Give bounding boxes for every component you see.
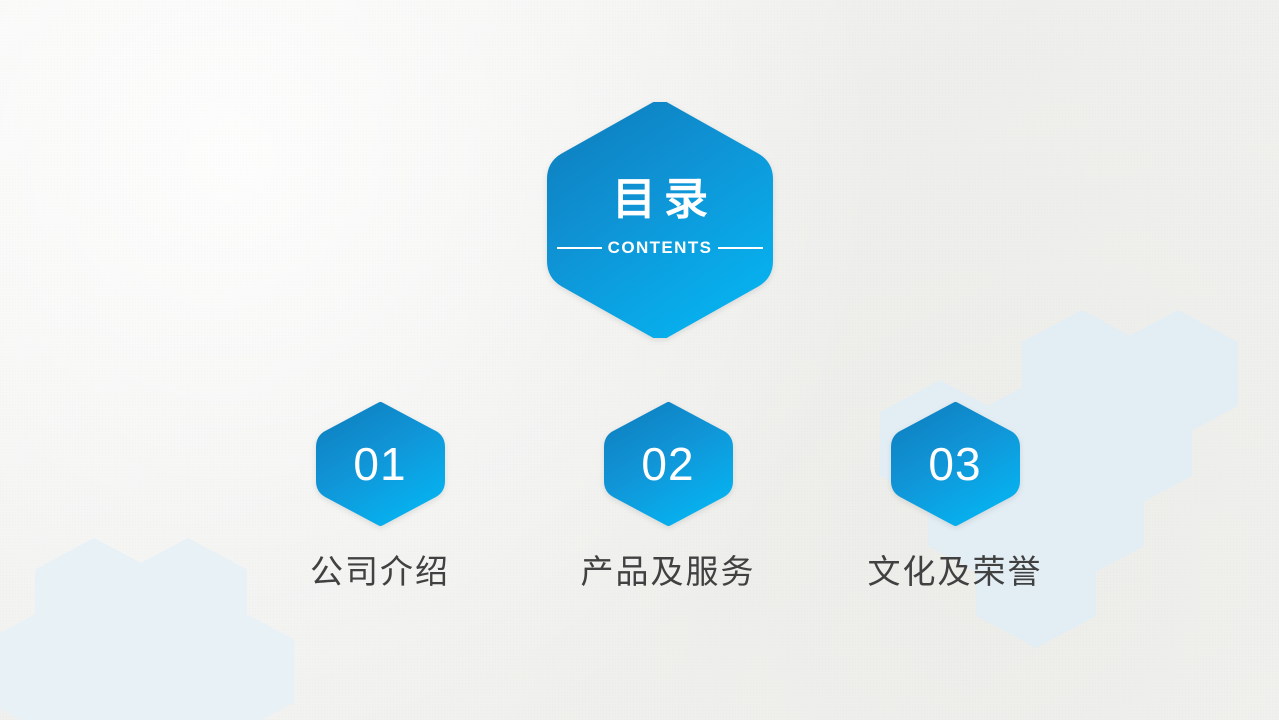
toc-caption-01: 公司介绍	[270, 554, 490, 590]
decor-hexagon	[129, 538, 247, 664]
decor-hexagon	[35, 678, 153, 720]
decor-hexagon	[1072, 380, 1192, 508]
number-hexagon-03[interactable]: 03	[890, 402, 1021, 526]
toc-caption-02: 产品及服务	[558, 554, 778, 590]
contents-hexagon[interactable]: 目录 CONTENTS	[546, 102, 774, 338]
contents-title-cn: 目录	[604, 178, 716, 222]
contents-title-en: CONTENTS	[602, 238, 719, 258]
decor-hexagon	[35, 538, 153, 664]
divider-line-right	[718, 247, 763, 249]
decor-hexagon	[129, 678, 247, 720]
toc-item-01[interactable]: 01 公司介绍	[270, 402, 490, 590]
number-label-03: 03	[890, 402, 1021, 526]
number-hexagon-02[interactable]: 02	[603, 402, 734, 526]
toc-item-02[interactable]: 02 产品及服务	[558, 402, 778, 590]
contents-subtitle-row: CONTENTS	[557, 238, 763, 258]
toc-caption-03: 文化及荣誉	[845, 554, 1065, 590]
number-label-01: 01	[315, 402, 446, 526]
number-label-02: 02	[603, 402, 734, 526]
slide-canvas: 目录 CONTENTS 01 公司介绍	[0, 0, 1279, 720]
contents-hexagon-content: 目录 CONTENTS	[546, 102, 774, 338]
decor-hexagon	[176, 608, 294, 720]
number-hexagon-01[interactable]: 01	[315, 402, 446, 526]
toc-item-03[interactable]: 03 文化及荣誉	[845, 402, 1065, 590]
decor-hexagon	[0, 608, 106, 720]
divider-line-left	[557, 247, 602, 249]
decor-hexagon	[82, 608, 200, 720]
decor-hexagon	[1118, 310, 1238, 438]
